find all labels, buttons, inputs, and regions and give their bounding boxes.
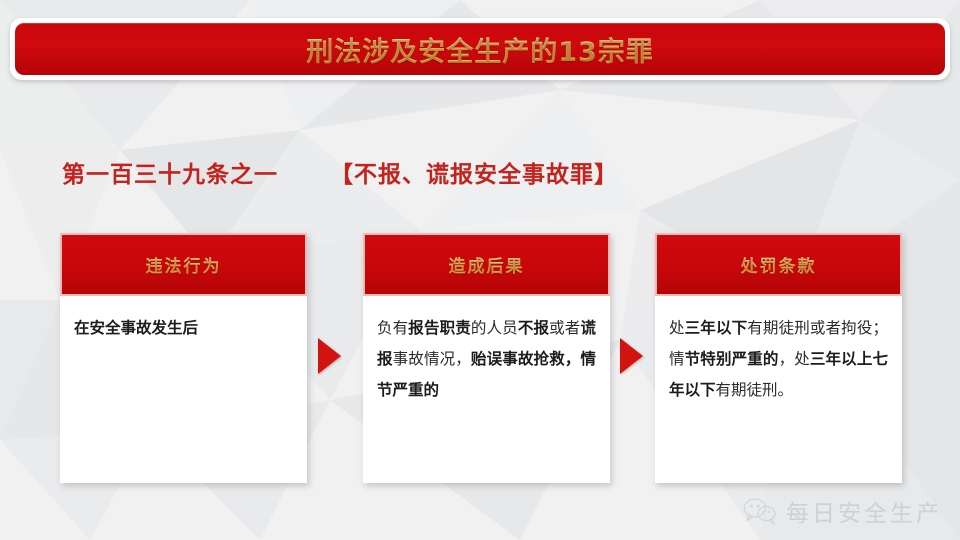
title-banner: 刑法涉及安全生产的13宗罪 (15, 23, 945, 75)
card-header-label: 违法行为 (146, 252, 222, 277)
page-title: 刑法涉及安全生产的13宗罪 (306, 30, 654, 69)
card-penalty: 处罚条款 处三年以下有期徒刑或者拘役；情节特别严重的，处三年以上七年以下有期徒刑… (655, 233, 902, 483)
card-header-consequence: 造成后果 (363, 233, 610, 296)
card-body-penalty: 处三年以下有期徒刑或者拘役；情节特别严重的，处三年以上七年以下有期徒刑。 (655, 296, 902, 416)
watermark: 每日安全生产 (743, 494, 942, 528)
watermark-text: 每日安全生产 (786, 494, 942, 528)
card-body-consequence: 负有报告职责的人员不报或者谎报事故情况，贻误事故抢救，情节严重的 (363, 296, 610, 416)
arrow-right-icon (318, 338, 341, 374)
card-violation: 违法行为 在安全事故发生后 (60, 233, 307, 483)
card-header-label: 处罚条款 (741, 252, 817, 277)
card-body-violation: 在安全事故发生后 (60, 296, 307, 354)
card-header-label: 造成后果 (449, 252, 525, 277)
wechat-icon (743, 497, 777, 525)
card-header-penalty: 处罚条款 (655, 233, 902, 296)
crime-name: 【不报、谎报安全事故罪】 (330, 162, 618, 188)
title-banner-frame: 刑法涉及安全生产的13宗罪 (10, 18, 950, 80)
card-header-violation: 违法行为 (60, 233, 307, 296)
arrow-right-icon (620, 338, 643, 374)
article-number: 第一百三十九条之一 (62, 162, 278, 188)
card-consequence: 造成后果 负有报告职责的人员不报或者谎报事故情况，贻误事故抢救，情节严重的 (363, 233, 610, 483)
article-subtitle: 第一百三十九条之一 【不报、谎报安全事故罪】 (62, 155, 618, 189)
